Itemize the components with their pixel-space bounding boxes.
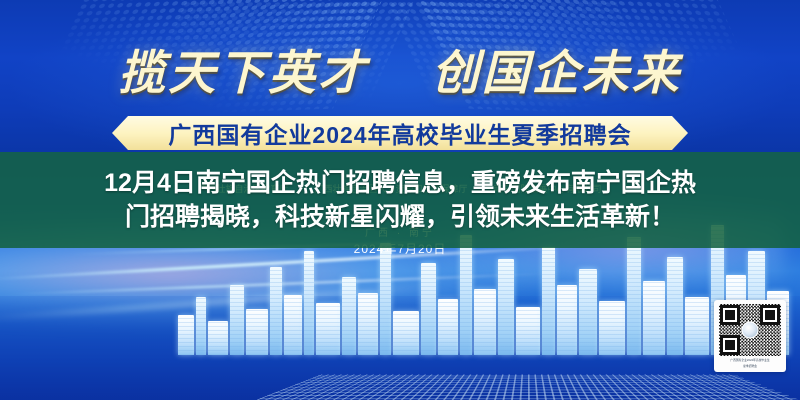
building — [542, 247, 555, 355]
building — [516, 307, 540, 355]
building — [246, 309, 268, 355]
building — [438, 299, 458, 355]
building — [557, 285, 577, 355]
building — [579, 269, 597, 355]
building — [667, 257, 683, 355]
building — [178, 315, 194, 355]
slogan-right-text: 创国企未来 — [432, 48, 682, 100]
building — [685, 297, 709, 355]
building — [316, 303, 340, 355]
slogan-left-text: 揽天下英才 — [118, 48, 368, 100]
building — [196, 297, 206, 355]
qr-caption-line-1: 广西国有企业2024年高校毕业生 — [720, 358, 781, 362]
qr-caption-line-2: 夏季招聘会 — [720, 365, 781, 369]
qr-finder-top-right — [760, 305, 780, 325]
headline-line-1: 12月4日南宁国企热门招聘信息，重磅发布南宁国企热 — [104, 167, 696, 199]
headline-line-2: 门招聘揭晓，科技新星闪耀，引领未来生活革新！ — [125, 201, 675, 233]
event-name-ribbon: 广西国有企业2024年高校毕业生夏季招聘会 — [112, 116, 688, 150]
qr-code-card[interactable]: 广西国有企业2024年高校毕业生 夏季招聘会 — [714, 300, 786, 372]
qr-center-logo-icon — [742, 322, 759, 339]
building — [284, 295, 302, 355]
plaza-grid — [240, 374, 800, 400]
building — [304, 251, 314, 355]
banner-header: 揽天下英才 创国企未来 广西国有企业2024年高校毕业生夏季招聘会 — [0, 0, 800, 152]
article-headline: 12月4日南宁国企热门招聘信息，重磅发布南宁国企热 门招聘揭晓，科技新星闪耀，引… — [0, 152, 800, 248]
building — [230, 285, 244, 355]
building — [643, 281, 665, 355]
building — [498, 259, 514, 355]
poster-slogan: 揽天下英才 创国企未来 — [0, 34, 800, 103]
building — [380, 243, 391, 355]
building — [627, 237, 641, 355]
building — [421, 263, 436, 355]
building — [208, 321, 228, 355]
building — [393, 311, 419, 355]
building — [358, 293, 378, 355]
building — [342, 277, 356, 355]
qr-finder-top-left — [720, 305, 740, 325]
qr-finder-bottom-left — [720, 335, 740, 355]
building — [460, 235, 472, 355]
qr-code-image — [719, 304, 781, 356]
event-name-text: 广西国有企业2024年高校毕业生夏季招聘会 — [168, 116, 631, 150]
building — [474, 289, 496, 355]
building — [599, 301, 625, 355]
poster-image: 揽天下英才 创国企未来 广西国有企业2024年高校毕业生夏季招聘会 — [0, 0, 800, 400]
building — [270, 267, 282, 355]
